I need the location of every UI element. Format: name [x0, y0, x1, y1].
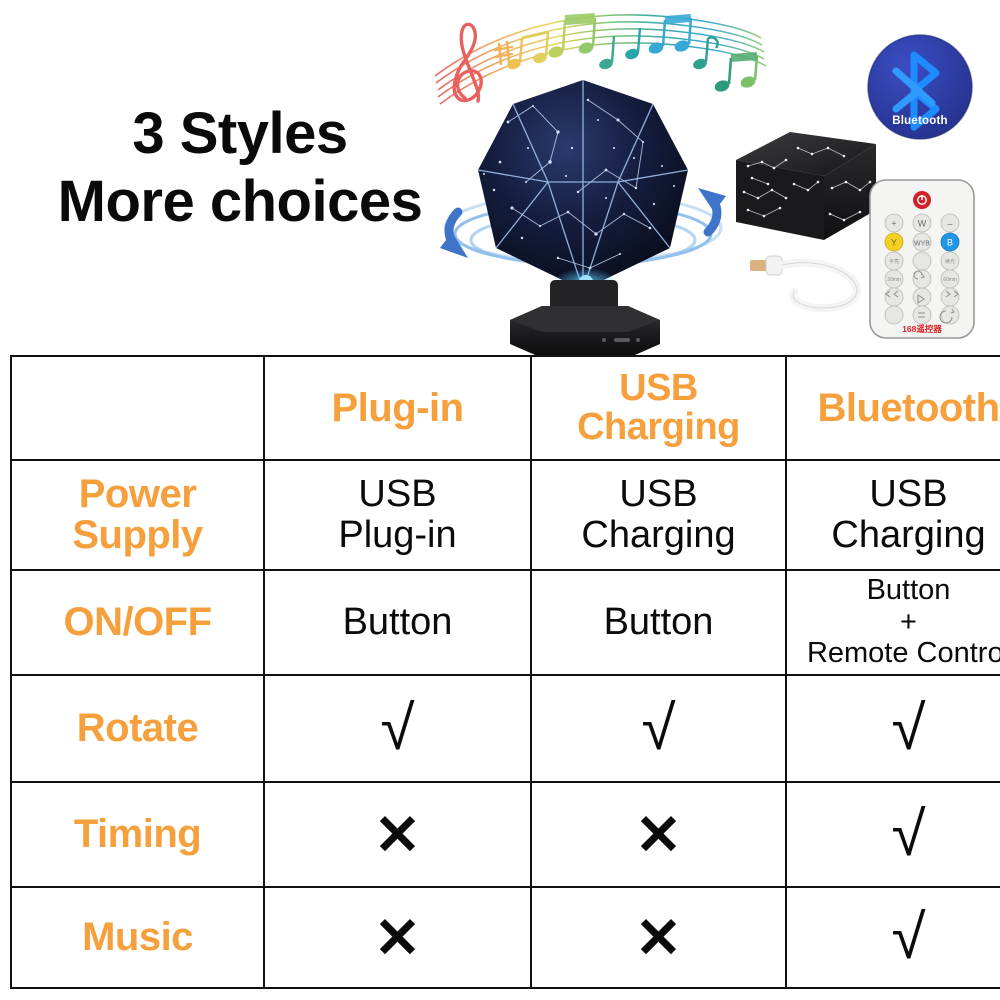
header-usb-line1: USB	[536, 369, 781, 408]
svg-text:–: –	[947, 219, 952, 229]
svg-text:+: +	[891, 219, 896, 229]
cell-line-1: Button	[269, 602, 526, 643]
row-label-power-supply: Power Supply	[11, 460, 264, 570]
cell-timing-usb-charging: ✕	[531, 782, 786, 887]
table-row-music: Music ✕ ✕ √	[11, 887, 1000, 988]
cell-rotate-plug-in: √	[264, 675, 531, 782]
svg-text:续光: 续光	[945, 258, 955, 265]
cell-rotate-bluetooth: √	[786, 675, 1000, 782]
cell-timing-plug-in: ✕	[264, 782, 531, 887]
cell-line-2: Charging	[791, 515, 1000, 556]
table-row-timing: Timing ✕ ✕ √	[11, 782, 1000, 887]
cross-icon: ✕	[536, 910, 781, 966]
check-icon: √	[791, 698, 1000, 760]
cell-line-1: USB	[536, 474, 781, 515]
usb-cable	[750, 256, 857, 308]
page-title: 3 Styles More choices	[40, 100, 440, 237]
check-icon: √	[269, 698, 526, 760]
headline-line-1: 3 Styles	[40, 100, 440, 168]
row-label-on-off: ON/OFF	[11, 570, 264, 675]
header-cell-usb-charging: USB Charging	[531, 356, 786, 460]
check-icon: √	[791, 804, 1000, 866]
check-icon: √	[536, 698, 781, 760]
remote-control: + W – Y WYB B 半亮续光 30min60mi	[868, 178, 976, 340]
cell-power-usb-charging: USB Charging	[531, 460, 786, 570]
svg-text:W: W	[918, 219, 927, 229]
header-cell-plug-in: Plug-in	[264, 356, 531, 460]
table-row-power-supply: Power Supply USB Plug-in USB Charging US…	[11, 460, 1000, 570]
table-header-row: Plug-in USB Charging Bluetooth	[11, 356, 1000, 460]
header-bluetooth-label: Bluetooth	[791, 387, 1000, 429]
table-row-rotate: Rotate √ √ √	[11, 675, 1000, 782]
cell-line-1: USB	[269, 474, 526, 515]
row-label-line-2: Supply	[16, 515, 259, 556]
row-label-rotate: Rotate	[11, 675, 264, 782]
header-plug-in-label: Plug-in	[269, 387, 526, 429]
cell-onoff-plug-in: Button	[264, 570, 531, 675]
remote-model-label: 168遥控器	[902, 324, 942, 334]
cell-line-2: +	[791, 607, 1000, 639]
svg-text:60min: 60min	[943, 277, 957, 283]
svg-text:Y: Y	[891, 238, 897, 248]
cross-icon: ✕	[269, 807, 526, 863]
star-projector-lamp	[438, 62, 728, 357]
cell-line-2: Plug-in	[269, 515, 526, 556]
cell-power-plug-in: USB Plug-in	[264, 460, 531, 570]
row-label-line-1: ON/OFF	[16, 602, 259, 643]
cell-power-bluetooth: USB Charging	[786, 460, 1000, 570]
header-cell-empty	[11, 356, 264, 460]
row-label-timing: Timing	[11, 782, 264, 887]
row-label-line-1: Power	[16, 474, 259, 515]
header-usb-line2: Charging	[536, 408, 781, 447]
row-label-line-1: Rotate	[16, 708, 259, 749]
cell-line-1: Button	[791, 575, 1000, 607]
cell-line-2: Charging	[536, 515, 781, 556]
product-comparison-page: 3 Styles More choices	[0, 0, 1000, 1000]
cell-onoff-usb-charging: Button	[531, 570, 786, 675]
svg-text:B: B	[947, 238, 953, 248]
cell-onoff-bluetooth: Button + Remote Control	[786, 570, 1000, 675]
comparison-table: Plug-in USB Charging Bluetooth Power Sup…	[10, 355, 1000, 989]
cross-icon: ✕	[269, 910, 526, 966]
row-label-music: Music	[11, 887, 264, 988]
cell-music-usb-charging: ✕	[531, 887, 786, 988]
cell-music-bluetooth: √	[786, 887, 1000, 988]
cell-line-3: Remote Control	[791, 638, 1000, 670]
row-label-line-1: Music	[16, 917, 259, 958]
bluetooth-badge-label: Bluetooth	[866, 115, 974, 127]
row-label-line-1: Timing	[16, 814, 259, 855]
svg-text:WYB: WYB	[914, 241, 930, 248]
cell-line-1: USB	[791, 474, 1000, 515]
cell-music-plug-in: ✕	[264, 887, 531, 988]
svg-text:30min: 30min	[887, 277, 901, 283]
headline-line-2: More choices	[40, 168, 440, 236]
cell-rotate-usb-charging: √	[531, 675, 786, 782]
cell-line-1: Button	[536, 602, 781, 643]
check-icon: √	[791, 907, 1000, 969]
cross-icon: ✕	[536, 807, 781, 863]
bluetooth-badge: Bluetooth	[866, 33, 974, 141]
hero-banner: 3 Styles More choices	[0, 0, 1000, 355]
header-cell-bluetooth: Bluetooth	[786, 356, 1000, 460]
svg-text:半亮: 半亮	[889, 258, 899, 265]
cell-timing-bluetooth: √	[786, 782, 1000, 887]
table-row-on-off: ON/OFF Button Button Button + Remote Con…	[11, 570, 1000, 675]
